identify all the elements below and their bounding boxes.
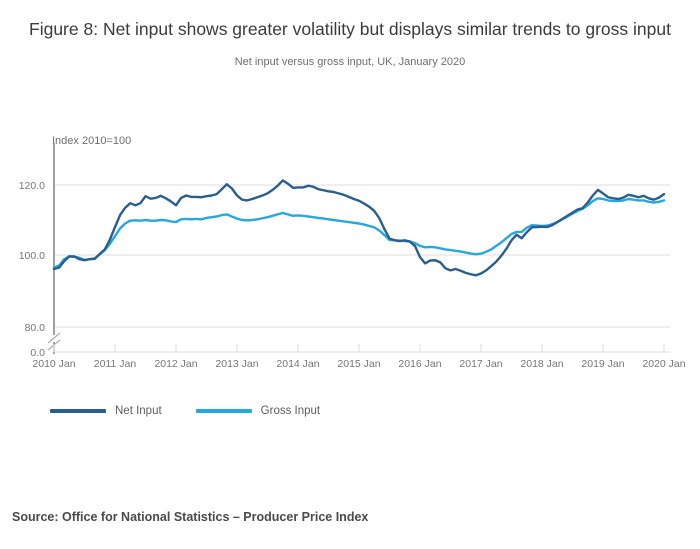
y-tick-label: 100.0 <box>19 250 45 262</box>
x-tick-label: 2012 Jan <box>154 358 197 370</box>
y-tick-label: 80.0 <box>25 322 46 334</box>
chart-legend: Net Input Gross Input <box>50 405 320 417</box>
source-note: Source: Office for National Statistics –… <box>12 510 368 524</box>
legend-item-gross-input[interactable]: Gross Input <box>196 405 320 417</box>
x-tick-label: 2019 Jan <box>581 358 624 370</box>
legend-swatch-gross-input <box>196 409 252 413</box>
x-tick-label: 2020 Jan <box>642 358 685 370</box>
legend-label-gross-input: Gross Input <box>261 405 320 417</box>
legend-swatch-net-input <box>50 409 106 413</box>
x-tick-label: 2014 Jan <box>276 358 319 370</box>
x-tick-label: 2011 Jan <box>94 358 137 370</box>
line-chart: 0.080.0100.0120.02010 Jan2011 Jan2012 Ja… <box>0 125 700 380</box>
series-line-gross-input <box>54 198 664 267</box>
x-tick-label: 2017 Jan <box>459 358 502 370</box>
figure-subtitle: Net input versus gross input, UK, Januar… <box>20 56 680 68</box>
x-tick-label: 2015 Jan <box>337 358 380 370</box>
figure-title: Figure 8: Net input shows greater volati… <box>20 18 680 41</box>
series-line-net-input <box>54 180 664 275</box>
x-tick-label: 2018 Jan <box>520 358 563 370</box>
x-tick-label: 2010 Jan <box>32 358 75 370</box>
x-tick-label: 2013 Jan <box>215 358 258 370</box>
x-tick-label: 2016 Jan <box>398 358 441 370</box>
legend-label-net-input: Net Input <box>115 405 162 417</box>
chart-plot-area: Index 2010=100 0.080.0100.0120.02010 Jan… <box>0 125 700 380</box>
y-tick-label: 120.0 <box>19 180 45 192</box>
legend-item-net-input[interactable]: Net Input <box>50 405 162 417</box>
